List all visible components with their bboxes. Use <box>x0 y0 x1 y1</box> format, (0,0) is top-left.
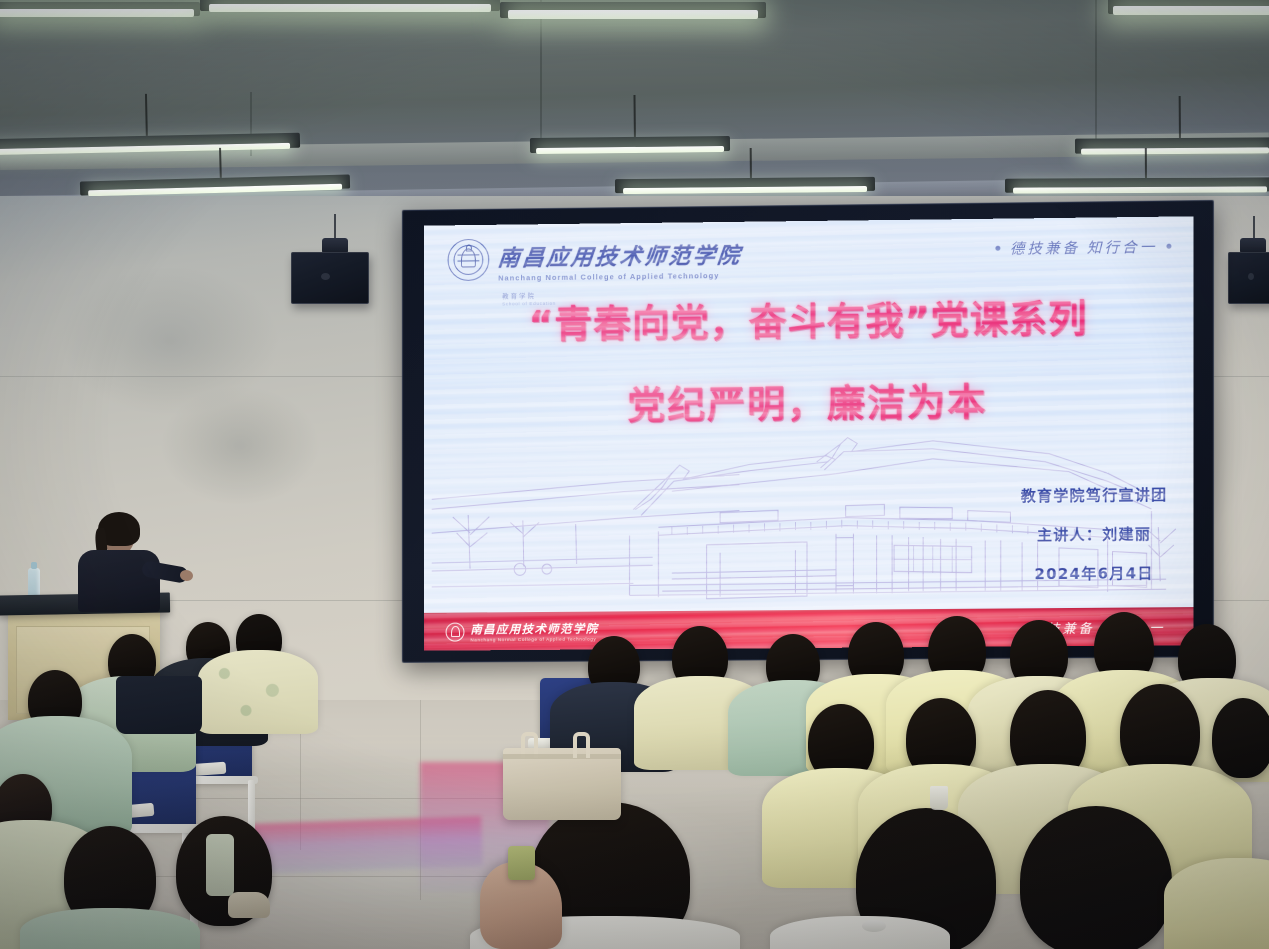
credit-date: 2024年6月4日 <box>1034 562 1153 584</box>
ceiling-light-fixture <box>1108 0 1269 14</box>
credit-speaker: 主讲人：刘建丽 <box>1037 523 1151 545</box>
wall-speaker <box>1228 252 1269 304</box>
slide-titles: “青春向党，奋斗有我”党课系列 党纪严明，廉洁为本 <box>424 295 1194 432</box>
audience-torso <box>1164 858 1269 949</box>
slide-title-main: “青春向党，奋斗有我”党课系列 <box>424 295 1194 351</box>
ceiling-light-fixture <box>500 2 766 18</box>
led-display[interactable]: 南昌应用技术师范学院 Nanchang Normal College of Ap… <box>400 205 1212 660</box>
tote-bag <box>503 748 621 820</box>
ceiling-light-fixture <box>530 136 730 153</box>
audience-torso <box>198 650 318 734</box>
bell-crest-icon <box>448 239 490 281</box>
light-suspension-cord <box>1145 148 1147 178</box>
ceiling-light-fixture <box>615 177 875 193</box>
lecture-hall-photo: 南昌应用技术师范学院 Nanchang Normal College of Ap… <box>0 0 1269 949</box>
presenter <box>70 512 190 607</box>
slide-title-sub: 党纪严明，廉洁为本 <box>424 369 1194 432</box>
slide-credits: 教育学院笃行宣讲团 主讲人：刘建丽 2024年6月4日 <box>1021 484 1168 585</box>
credit-organizer: 教育学院笃行宣讲团 <box>1021 484 1168 506</box>
speaker-cable <box>1253 216 1255 240</box>
ceiling-panel-seam <box>540 0 542 150</box>
light-suspension-cord <box>1179 96 1181 138</box>
institution-name-en: Nanchang Normal College of Applied Techn… <box>498 271 742 283</box>
mobile-phone <box>508 846 535 880</box>
tote-bag-band <box>503 754 621 759</box>
presenter-blazer <box>78 550 160 612</box>
ceiling-panel-seam <box>1095 0 1097 152</box>
light-suspension-cord <box>145 94 147 136</box>
bullet-dot-icon <box>1166 244 1171 249</box>
slide-content: 南昌应用技术师范学院 Nanchang Normal College of Ap… <box>424 216 1194 613</box>
crest-bars-shape <box>458 254 480 261</box>
jacket-on-chair <box>116 676 202 734</box>
slide-motto: 德技兼备 知行合一 <box>996 236 1172 259</box>
institution-name-cn: 南昌应用技术师范学院 <box>497 238 744 273</box>
light-suspension-cord <box>633 95 635 137</box>
audience-head <box>1212 698 1269 778</box>
logo-text: 南昌应用技术师范学院 Nanchang Normal College of Ap… <box>498 236 742 307</box>
speaker-cable <box>334 214 336 240</box>
leg <box>206 834 234 896</box>
ceiling-light-fixture <box>1075 137 1269 153</box>
audience <box>0 620 1269 949</box>
light-glow <box>209 4 491 12</box>
light-glow <box>1081 147 1269 155</box>
presentation-slide: 南昌应用技术师范学院 Nanchang Normal College of Ap… <box>424 216 1194 650</box>
ceiling-light-fixture <box>1005 177 1269 192</box>
shoe <box>228 892 270 918</box>
audience-head-foreground <box>1020 806 1172 949</box>
wall-speaker <box>291 252 369 304</box>
light-glow <box>508 10 758 19</box>
bullet-dot-icon <box>996 246 1001 251</box>
drink-cup <box>930 786 948 810</box>
drink-cup <box>862 920 886 932</box>
wall-mark <box>60 266 280 416</box>
light-suspension-cord <box>750 148 752 178</box>
ceiling-light-fixture <box>200 0 500 11</box>
light-glow <box>0 9 194 17</box>
motto-text: 德技兼备 知行合一 <box>1010 236 1158 259</box>
slide-header: 南昌应用技术师范学院 Nanchang Normal College of Ap… <box>448 231 1172 295</box>
institution-logo: 南昌应用技术师范学院 Nanchang Normal College of Ap… <box>448 236 742 307</box>
ceiling <box>0 0 1269 215</box>
light-glow <box>1113 6 1269 15</box>
audience-torso <box>770 916 950 949</box>
wall-mark <box>160 386 320 506</box>
audience-torso <box>20 908 200 949</box>
ceiling-light-fixture <box>0 2 200 16</box>
